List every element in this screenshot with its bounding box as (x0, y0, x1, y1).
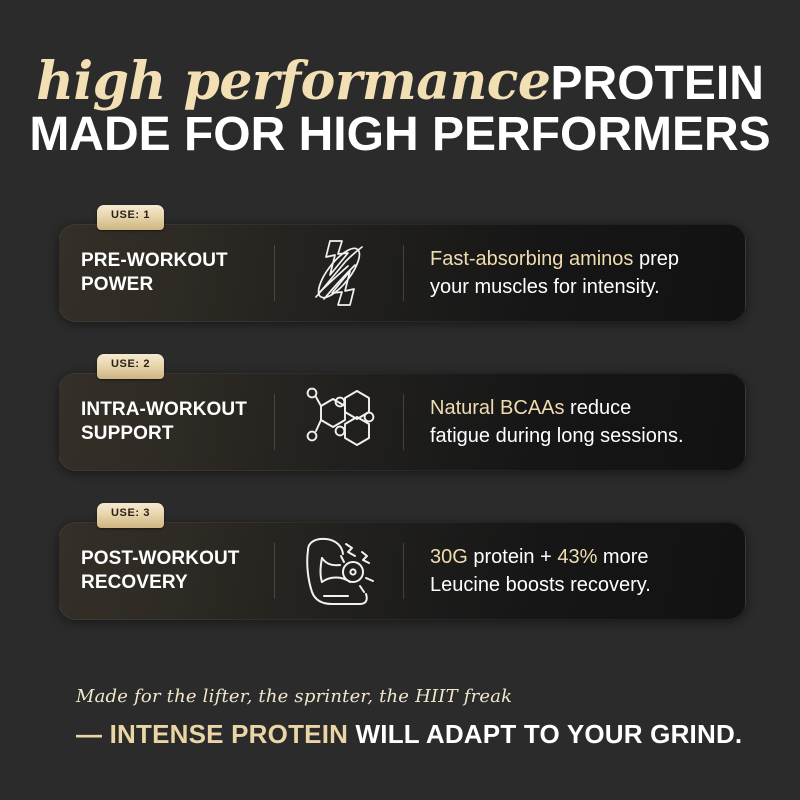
card-title-1: PRE-WORKOUT POWER (59, 225, 274, 321)
molecule-icon (275, 374, 403, 470)
headline-bold-text: PROTEIN (551, 57, 764, 110)
promo-page: high performancePROTEIN MADE FOR HIGH PE… (0, 0, 800, 800)
card-desc-2-line2: fatigue during long sessions. (430, 422, 727, 450)
card-description-1: Fast-absorbing aminos prep your muscles … (404, 225, 745, 321)
footer-statement-rest: WILL ADAPT TO YOUR GRIND. (348, 719, 742, 749)
card-desc-2-line1: Natural BCAAs reduce (430, 394, 727, 422)
card-desc-3-mid: protein + (468, 546, 558, 568)
use-case-block-3: USE: 3 POST-WORKOUT RECOVERY (58, 503, 746, 620)
card-description-2: Natural BCAAs reduce fatigue during long… (404, 374, 745, 470)
card-title-3-line2: RECOVERY (81, 571, 274, 595)
page-headline: high performancePROTEIN MADE FOR HIGH PE… (0, 56, 800, 160)
card-desc-3-highlight-2: 43% (557, 546, 597, 568)
headline-line-2: MADE FOR HIGH PERFORMERS (0, 110, 800, 160)
use-badge-1: USE: 1 (97, 205, 164, 230)
footer-dash: — (76, 719, 110, 749)
use-case-card-list: USE: 1 PRE-WORKOUT POWER (58, 205, 746, 620)
lightning-muscle-icon (275, 225, 403, 321)
card-desc-2-rest: reduce (565, 397, 632, 419)
flexing-bicep-icon (275, 523, 403, 619)
card-desc-3-rest: more (597, 546, 648, 568)
card-desc-3-highlight: 30G (430, 546, 468, 568)
use-case-block-2: USE: 2 INTRA-WORKOUT SUPPORT (58, 354, 746, 471)
card-title-1-line2: POWER (81, 273, 274, 297)
card-title-2-line2: SUPPORT (81, 422, 274, 446)
headline-script-text: high performance (36, 51, 550, 112)
use-case-block-1: USE: 1 PRE-WORKOUT POWER (58, 205, 746, 322)
footer-brand-name: INTENSE PROTEIN (110, 719, 348, 749)
card-title-2-line1: INTRA-WORKOUT (81, 398, 274, 422)
use-case-card-2[interactable]: INTRA-WORKOUT SUPPORT (58, 373, 746, 471)
card-title-3-line1: POST-WORKOUT (81, 547, 274, 571)
headline-line-1: high performancePROTEIN (0, 56, 800, 108)
use-case-card-3[interactable]: POST-WORKOUT RECOVERY (58, 522, 746, 620)
card-desc-1-rest: prep (633, 248, 679, 270)
card-desc-3-line1: 30G protein + 43% more (430, 543, 727, 571)
card-title-3: POST-WORKOUT RECOVERY (59, 523, 274, 619)
card-desc-3-line2: Leucine boosts recovery. (430, 571, 727, 599)
card-description-3: 30G protein + 43% more Leucine boosts re… (404, 523, 745, 619)
use-badge-2: USE: 2 (97, 354, 164, 379)
use-badge-3: USE: 3 (97, 503, 164, 528)
footer-statement: — INTENSE PROTEIN WILL ADAPT TO YOUR GRI… (76, 719, 776, 750)
card-title-2: INTRA-WORKOUT SUPPORT (59, 374, 274, 470)
footer-block: Made for the lifter, the sprinter, the H… (76, 686, 776, 750)
card-desc-1-line2: your muscles for intensity. (430, 273, 727, 301)
use-case-card-1[interactable]: PRE-WORKOUT POWER Fast-abs (58, 224, 746, 322)
footer-tagline: Made for the lifter, the sprinter, the H… (76, 686, 776, 707)
card-desc-2-highlight: Natural BCAAs (430, 397, 565, 419)
card-desc-1-line1: Fast-absorbing aminos prep (430, 245, 727, 273)
card-desc-1-highlight: Fast-absorbing aminos (430, 248, 633, 270)
card-title-1-line1: PRE-WORKOUT (81, 249, 274, 273)
